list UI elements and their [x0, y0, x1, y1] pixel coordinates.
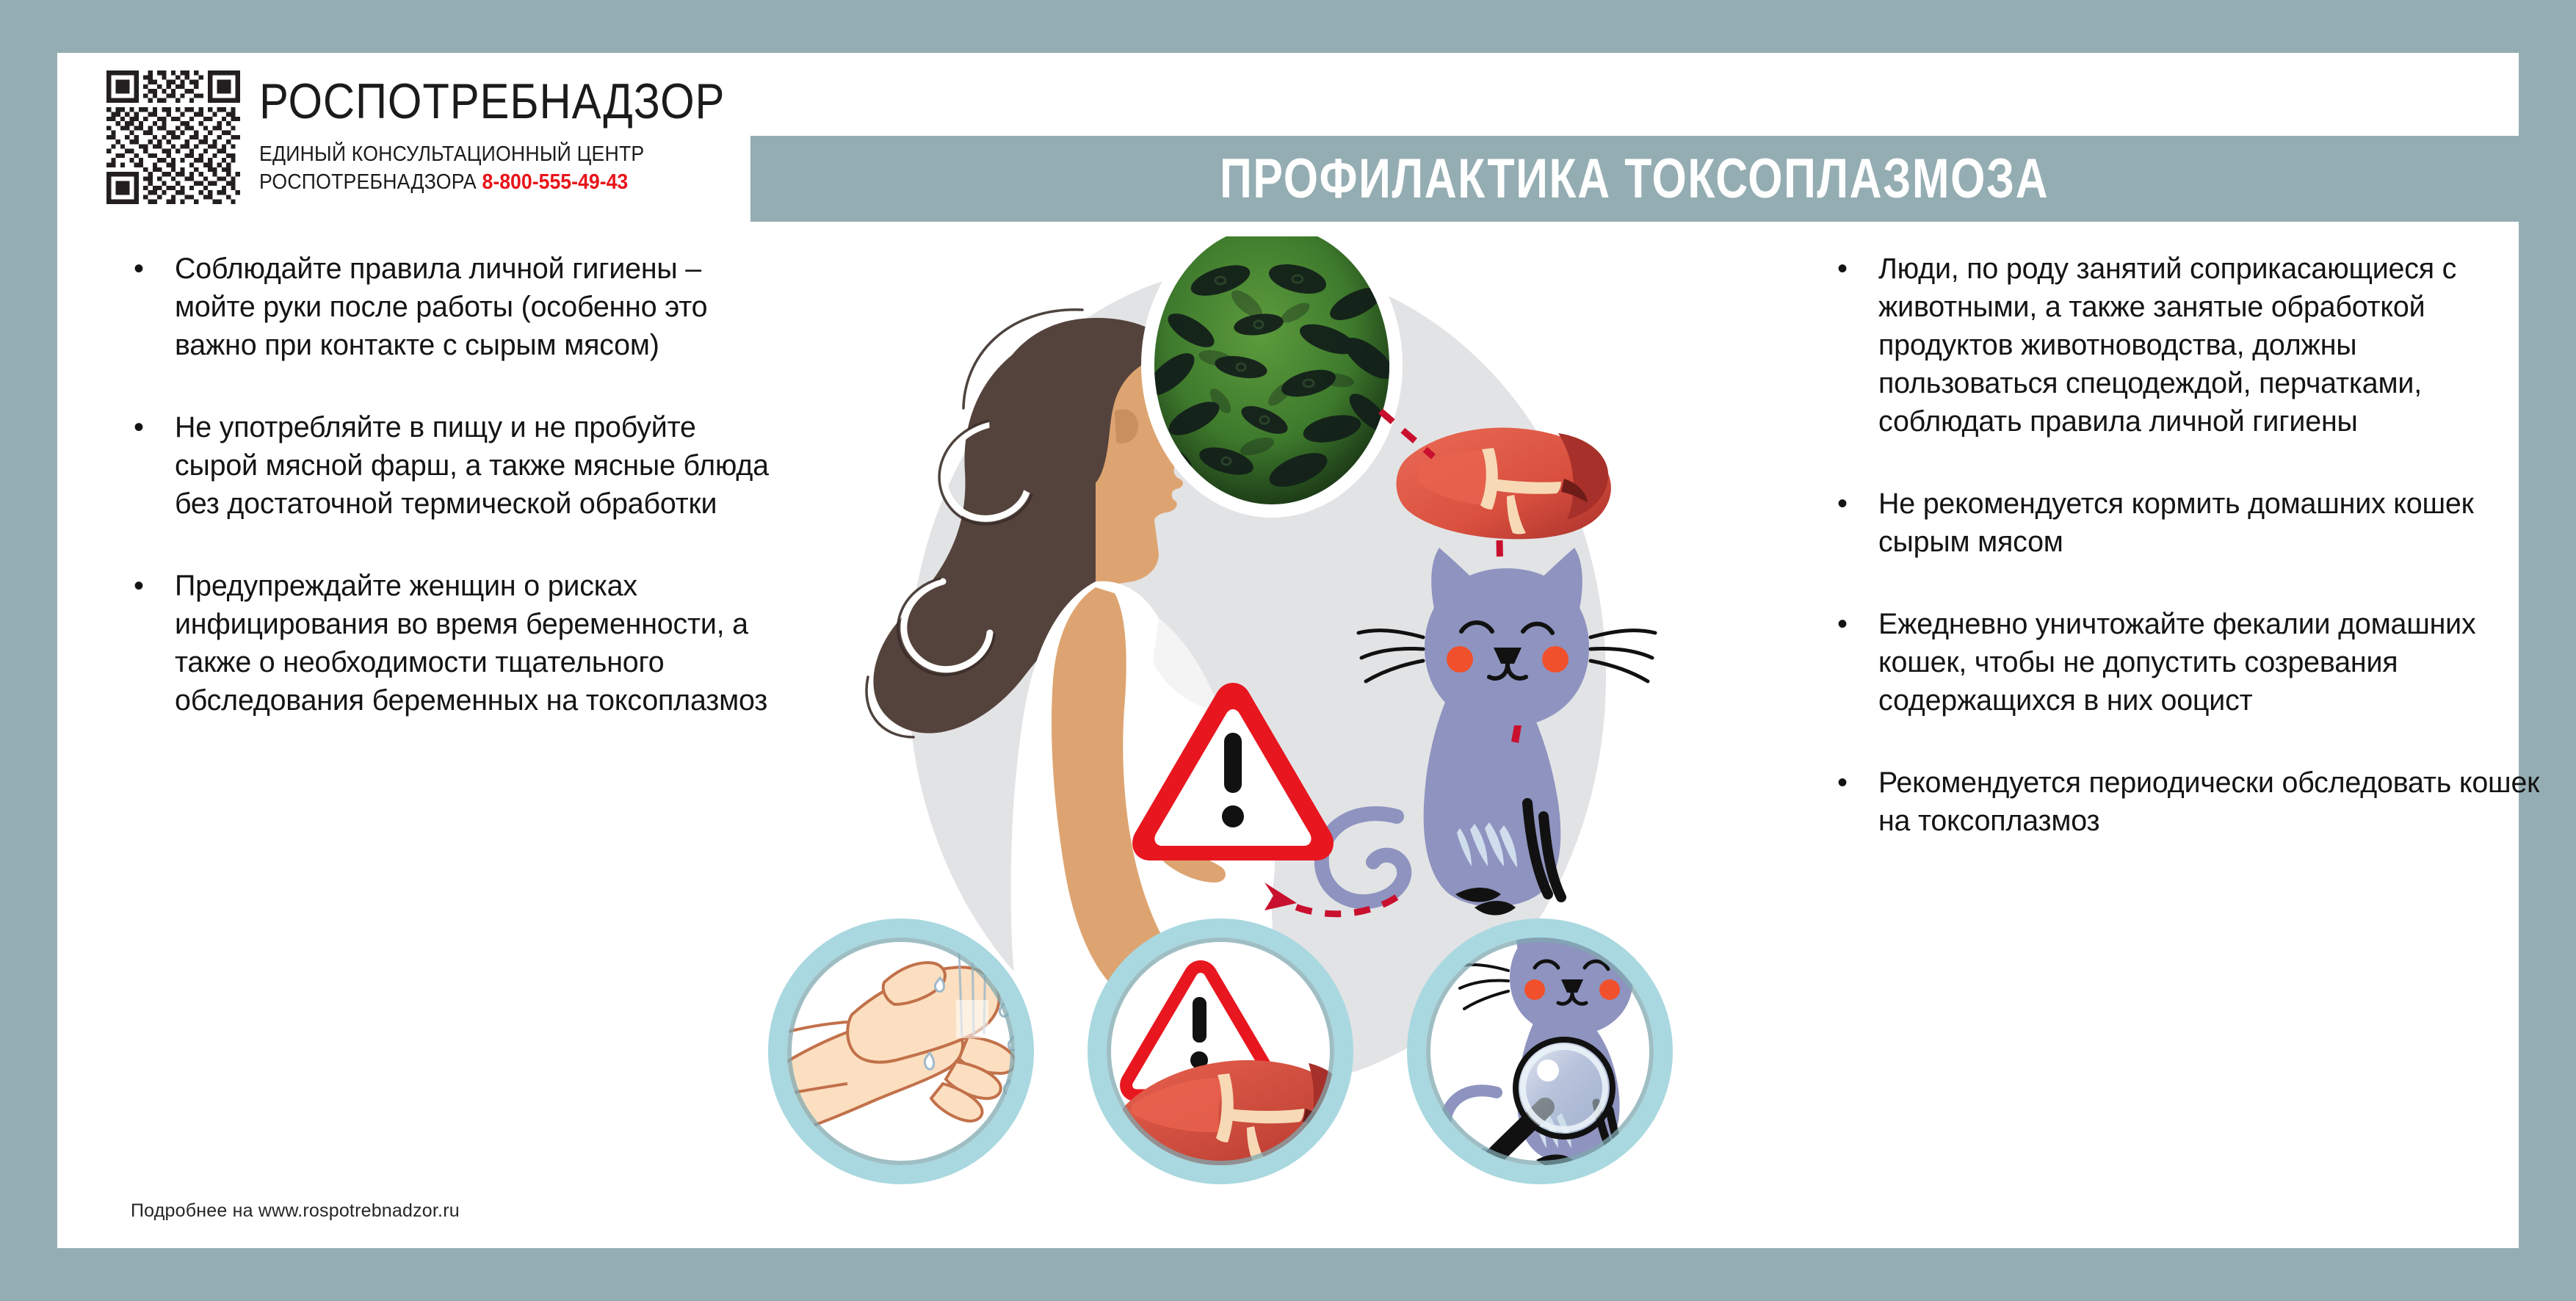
footer-website-note: Подробнее на www.rospotrebnadzor.ru — [131, 1200, 460, 1222]
consultation-center-label: РОСПОТРЕБНАДЗОРА — [259, 170, 477, 194]
list-item: • Не употребляйте в пищу и не пробуйте с… — [131, 408, 784, 523]
bullet-text: Соблюдайте правила личной гигиены – мойт… — [175, 250, 775, 364]
bullet-marker: • — [1834, 605, 1878, 720]
list-item: • Предупреждайте женщин о рисках инфицир… — [131, 567, 784, 720]
bullet-text: Люди, по роду занятий соприкасающиеся с … — [1878, 250, 2544, 441]
list-item: • Люди, по роду занятий соприкасающиеся … — [1834, 250, 2554, 441]
consultation-center-line-1: ЕДИНЫЙ КОНСУЛЬТАЦИОННЫЙ ЦЕНТР — [259, 140, 746, 168]
list-item: • Соблюдайте правила личной гигиены – мо… — [131, 250, 784, 364]
bullet-text: Ежедневно уничтожайте фекалии домашних к… — [1878, 605, 2544, 720]
bullet-text: Не рекомендуется кормить домашних кошек … — [1878, 485, 2544, 561]
central-illustration — [750, 236, 1793, 1235]
list-item: • Ежедневно уничтожайте фекалии домашних… — [1834, 605, 2554, 720]
qr-code-icon — [106, 70, 240, 204]
bullet-text: Не употребляйте в пищу и не пробуйте сыр… — [175, 408, 775, 523]
brand-name: РОСПОТРЕБНАДЗОР — [259, 78, 725, 126]
list-item: • Не рекомендуется кормить домашних коше… — [1834, 485, 2554, 561]
bullet-text: Предупреждайте женщин о рисках инфициров… — [175, 567, 775, 720]
title-banner: ПРОФИЛАКТИКА ТОКСОПЛАЗМОЗА — [750, 136, 2519, 222]
poster-sheet: РОСПОТРЕБНАДЗОР ЕДИНЫЙ КОНСУЛЬТАЦИОННЫЙ … — [57, 53, 2519, 1248]
poster-header: РОСПОТРЕБНАДЗОР ЕДИНЫЙ КОНСУЛЬТАЦИОННЫЙ … — [57, 53, 2519, 222]
bullet-text: Рекомендуется периодически обследовать к… — [1878, 764, 2544, 840]
list-item: • Рекомендуется периодически обследовать… — [1834, 764, 2554, 840]
bullet-marker: • — [131, 567, 175, 720]
raw-meat-icon — [1397, 428, 1611, 540]
left-bullet-column: • Соблюдайте правила личной гигиены – мо… — [131, 250, 784, 764]
consultation-center-line-2: РОСПОТРЕБНАДЗОРА 8-800-555-49-43 — [259, 168, 746, 196]
bullet-marker: • — [1834, 250, 1878, 441]
bullet-marker: • — [1834, 485, 1878, 561]
bullet-marker: • — [131, 408, 175, 523]
logo-text-block: РОСПОТРЕБНАДЗОР ЕДИНЫЙ КОНСУЛЬТАЦИОННЫЙ … — [259, 70, 789, 196]
bullet-marker: • — [131, 250, 175, 364]
raw-meat-warning-circle-icon — [1097, 928, 1347, 1175]
bullet-marker: • — [1834, 764, 1878, 840]
hotline-phone-number[interactable]: 8-800-555-49-43 — [482, 170, 628, 194]
page-title: ПРОФИЛАКТИКА ТОКСОПЛАЗМОЗА — [1220, 147, 2049, 211]
rospotrebnadzor-logo-block: РОСПОТРЕБНАДЗОР ЕДИНЫЙ КОНСУЛЬТАЦИОННЫЙ … — [106, 70, 789, 204]
handwashing-circle-icon — [777, 928, 1024, 1175]
right-bullet-column: • Люди, по роду занятий соприкасающиеся … — [1834, 250, 2554, 884]
